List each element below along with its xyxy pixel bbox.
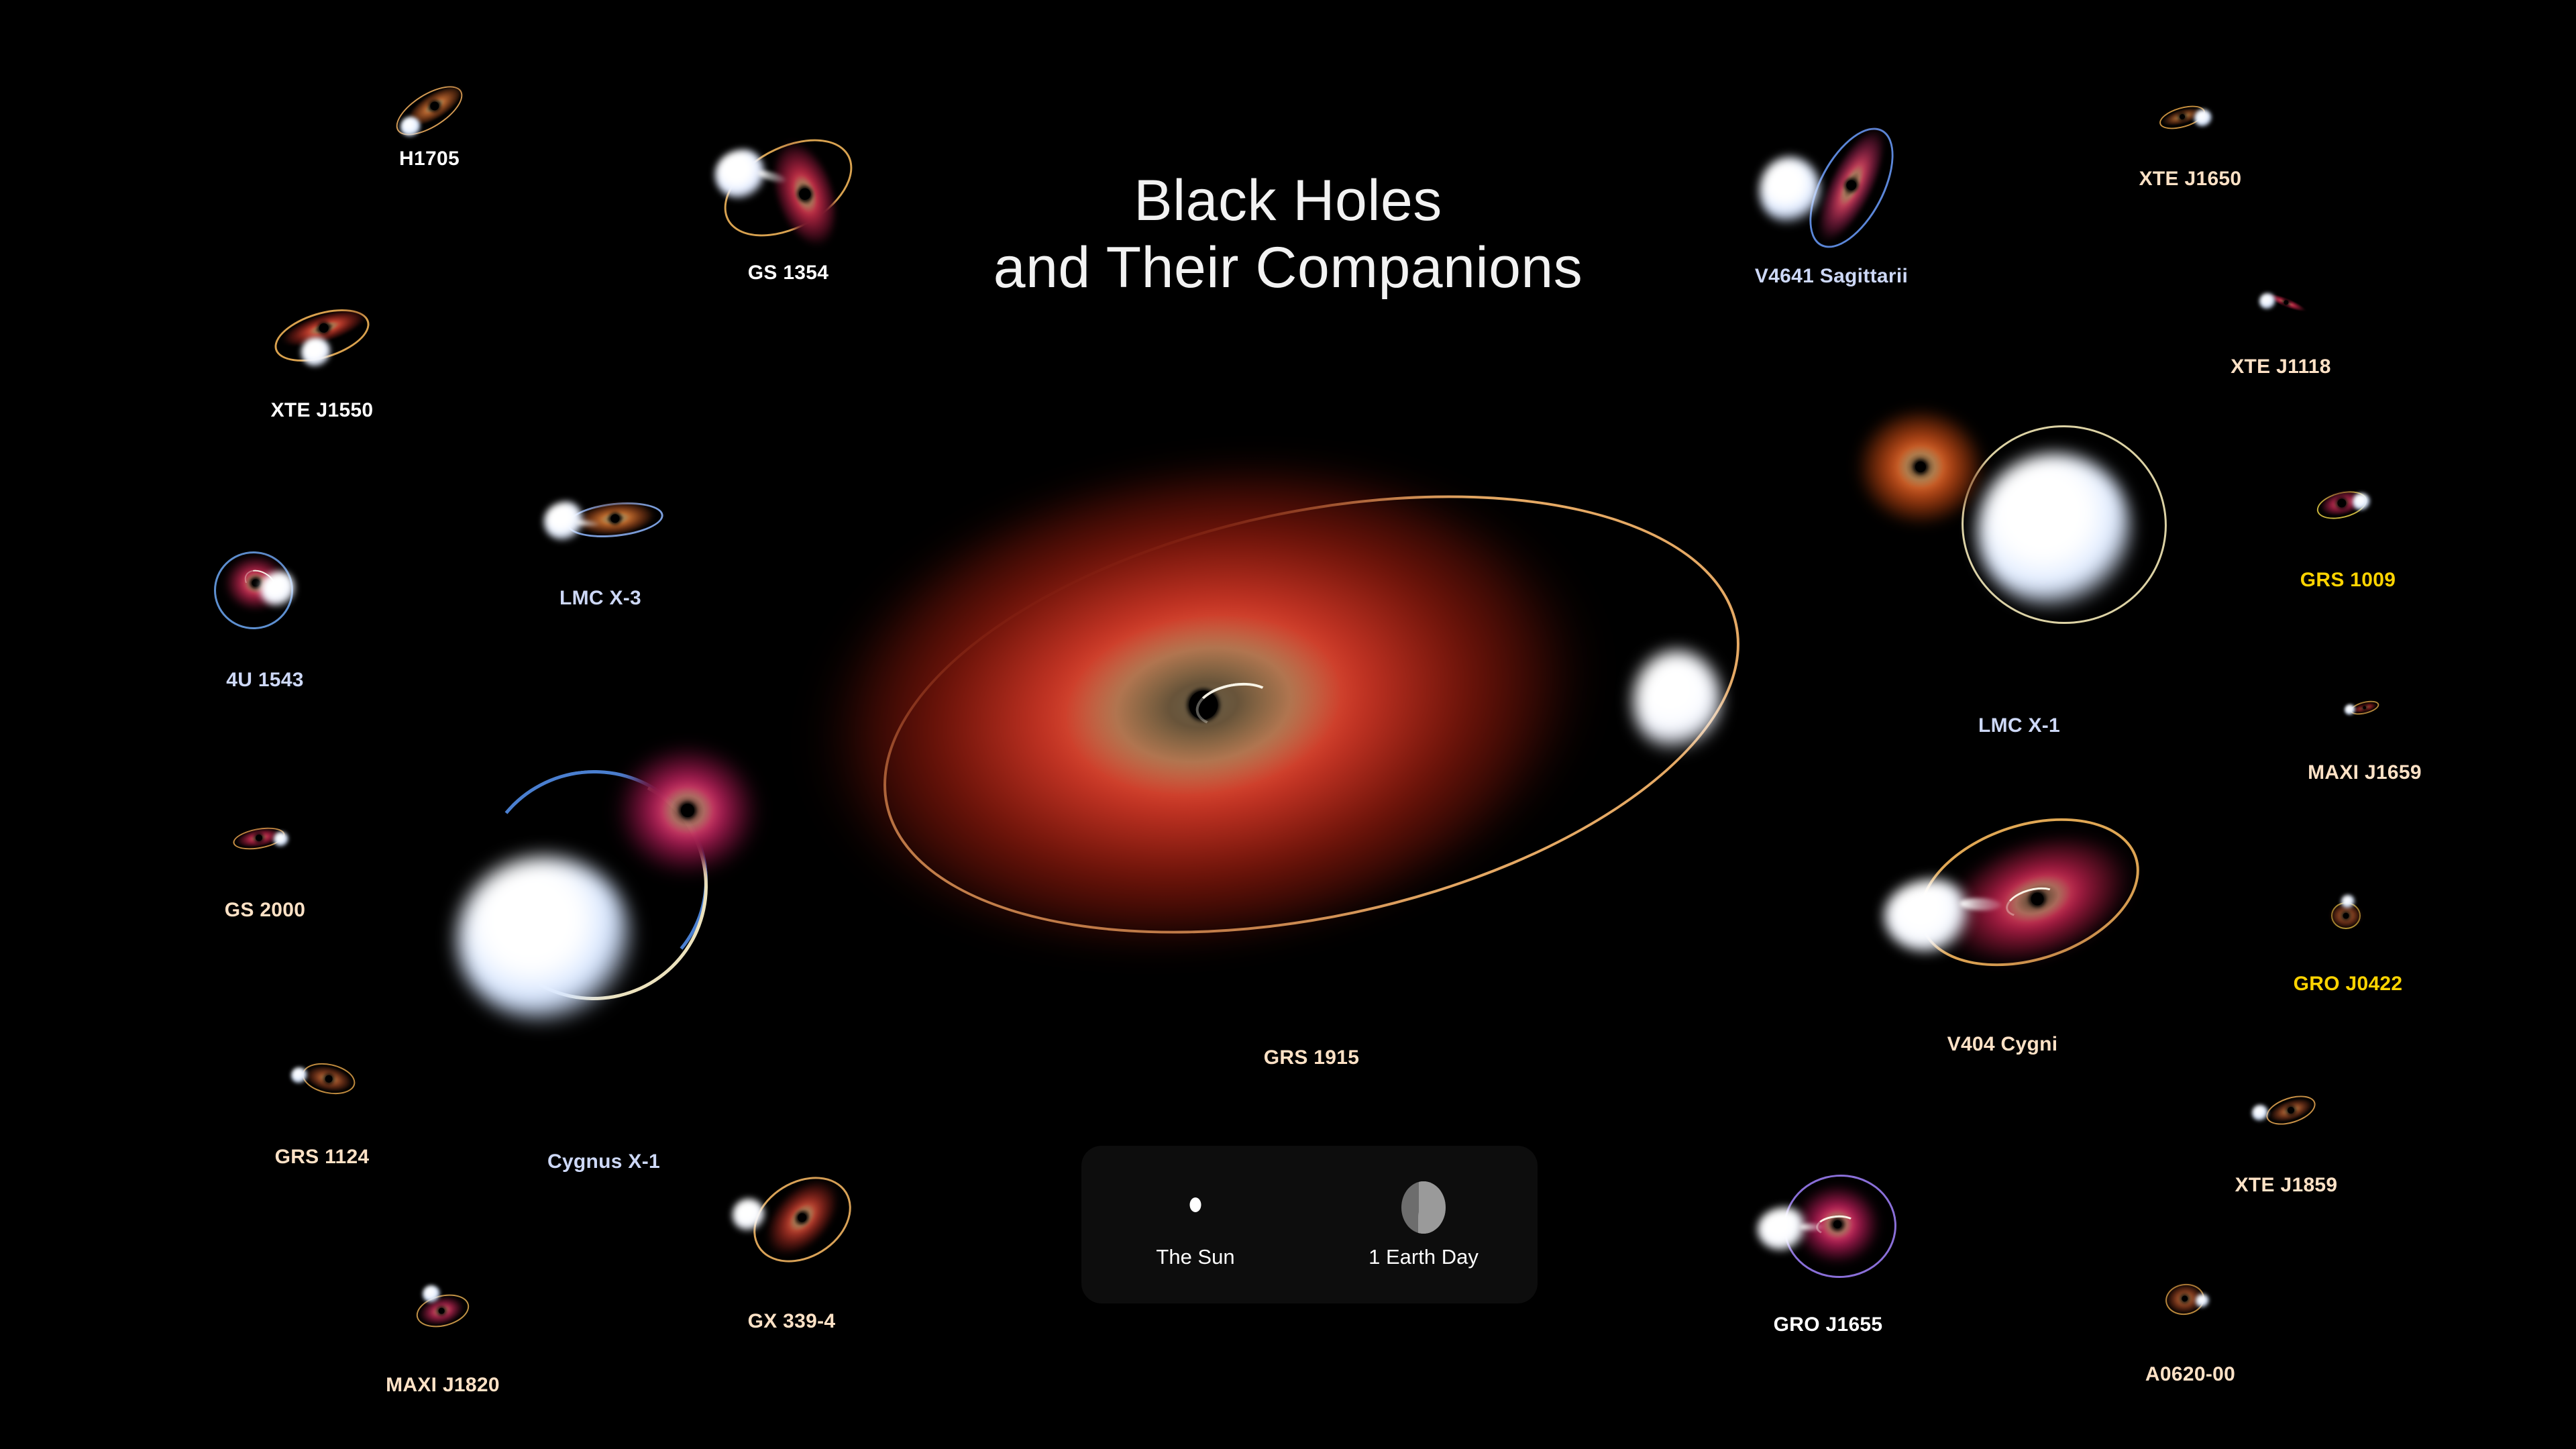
system-label: XTE J1550 <box>271 399 374 422</box>
system-label: MAXI J1659 <box>2308 761 2422 784</box>
binary-illustration <box>2311 485 2385 525</box>
binary-illustration <box>386 80 473 141</box>
companion-star <box>274 832 288 847</box>
binary-illustration <box>228 820 302 857</box>
system-label: XTE J1859 <box>2235 1174 2338 1197</box>
companion-star <box>1760 157 1820 224</box>
binary-illustration <box>1868 815 2137 983</box>
system-label: Cygnus X-1 <box>547 1150 660 1173</box>
companion-star <box>301 337 331 367</box>
companion-star <box>2345 704 2355 715</box>
system-label: LMC X-1 <box>1978 714 2060 737</box>
companion-star <box>2194 109 2212 127</box>
sun-dot-icon <box>1190 1197 1201 1212</box>
legend-item-earth-day: 1 Earth Day <box>1309 1146 1538 1303</box>
binary-illustration <box>282 1057 362 1101</box>
binary-illustration <box>208 545 322 632</box>
binary-illustration <box>2157 97 2224 138</box>
system-label: GRS 1009 <box>2300 569 2396 592</box>
system-label: LMC X-3 <box>559 587 641 610</box>
system-label: XTE J1118 <box>2231 356 2331 378</box>
binary-illustration <box>2249 1090 2323 1130</box>
legend-label-sun: The Sun <box>1156 1245 1234 1269</box>
companion-star <box>291 1067 307 1083</box>
binary-illustration <box>1751 1179 1905 1273</box>
companion-star <box>1633 651 1721 751</box>
system-label: GX 339-4 <box>748 1310 836 1333</box>
black-hole <box>2343 912 2349 918</box>
accretion-disk <box>1860 411 1981 523</box>
binary-illustration <box>1878 409 2160 631</box>
companion-star <box>2252 1105 2268 1121</box>
system-label: GRO J1655 <box>1774 1313 1883 1336</box>
title-line-2: and Their Companions <box>825 235 1751 302</box>
page-title: Black Holes and Their Companions <box>825 168 1751 302</box>
system-label: MAXI J1820 <box>386 1374 500 1397</box>
companion-star <box>715 150 765 199</box>
system-label: GRS 1124 <box>275 1146 370 1169</box>
black-hole <box>1915 462 1926 472</box>
companion-star <box>423 1285 440 1303</box>
system-label: GS 2000 <box>225 899 306 922</box>
binary-illustration <box>2345 696 2385 719</box>
companion-star <box>400 117 421 137</box>
companion-star <box>260 572 295 606</box>
title-line-1: Black Holes <box>1134 168 1442 233</box>
black-hole <box>681 804 694 817</box>
system-label: A0620-00 <box>2145 1363 2235 1386</box>
binary-illustration <box>704 131 872 245</box>
binary-illustration <box>265 299 379 372</box>
accretion-disk <box>621 749 755 872</box>
accretion-stream <box>1799 1224 1823 1230</box>
companion-star <box>1978 453 2132 608</box>
binary-illustration <box>540 490 661 550</box>
system-label: V4641 Sagittarii <box>1755 265 1908 288</box>
system-label: H1705 <box>399 148 460 170</box>
system-label: GRO J0422 <box>2294 973 2403 996</box>
legend-item-sun: The Sun <box>1081 1146 1309 1303</box>
companion-star <box>1884 879 1970 952</box>
system-label: 4U 1543 <box>226 669 304 692</box>
scale-legend-panel: The Sun 1 Earth Day <box>1081 1146 1538 1303</box>
binary-illustration <box>402 1280 483 1334</box>
binary-illustration <box>436 768 771 1050</box>
companion-star <box>1758 1207 1806 1250</box>
binary-illustration <box>724 1176 859 1263</box>
earth-day-phase-icon <box>1401 1181 1446 1234</box>
binary-illustration <box>2254 286 2308 317</box>
system-label: GS 1354 <box>748 262 829 284</box>
visualization-canvas: Black Holes and Their Companions H1705 G… <box>0 0 2576 1449</box>
system-label: XTE J1650 <box>2139 168 2242 191</box>
legend-label-earth-day: 1 Earth Day <box>1368 1245 1479 1269</box>
binary-illustration <box>2321 892 2375 932</box>
companion-star <box>2259 293 2275 309</box>
companion-star <box>2341 895 2355 908</box>
companion-star <box>733 1199 765 1231</box>
system-label: V404 Cygni <box>1947 1033 2058 1056</box>
companion-star <box>2353 493 2370 511</box>
companion-star <box>458 857 632 1021</box>
binary-illustration <box>2157 1279 2224 1320</box>
companion-star <box>2196 1294 2209 1307</box>
binary-illustration <box>862 480 1761 949</box>
binary-illustration <box>1748 127 1915 248</box>
system-label: GRS 1915 <box>1264 1046 1359 1069</box>
